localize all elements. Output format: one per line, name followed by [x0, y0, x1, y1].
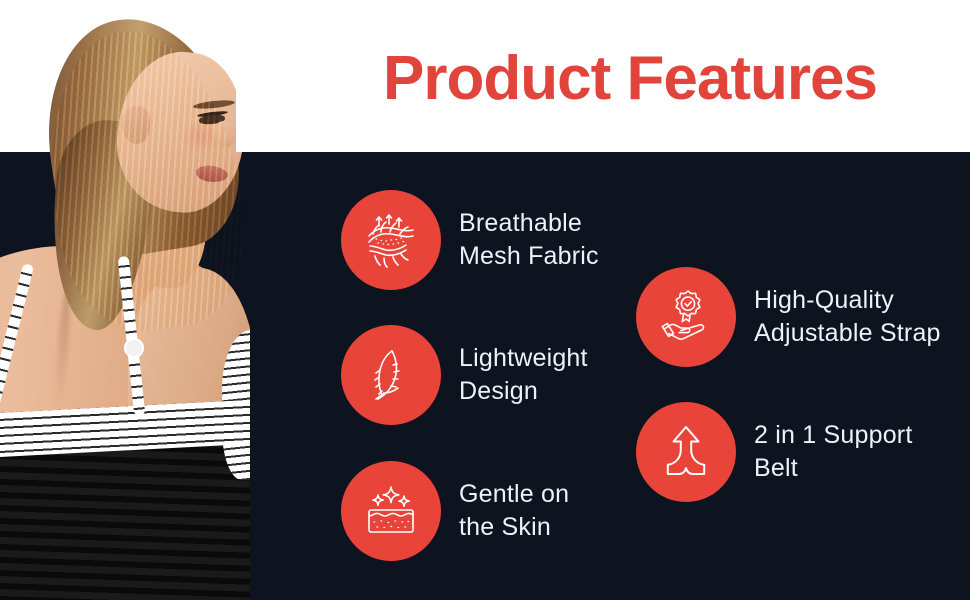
feature-label-line2: Belt	[754, 452, 912, 485]
feature-label-line2: Design	[459, 375, 588, 408]
feature-label-line2: Adjustable Strap	[754, 317, 941, 350]
feature-label: Lightweight Design	[459, 342, 588, 408]
hand-quality-badge-icon	[636, 267, 736, 367]
feature-item-2-in-1-support-belt[interactable]: 2 in 1 Support Belt	[636, 402, 912, 502]
feature-label-line1: Lightweight	[459, 342, 588, 375]
feature-item-breathable-mesh-fabric[interactable]: Breathable Mesh Fabric	[341, 190, 599, 290]
breathable-mesh-icon	[341, 190, 441, 290]
feature-item-gentle-on-the-skin[interactable]: Gentle on the Skin	[341, 461, 569, 561]
page-title: Product Features	[330, 36, 930, 122]
feature-label: Breathable Mesh Fabric	[459, 207, 599, 273]
feature-label: High-Quality Adjustable Strap	[754, 284, 941, 350]
merge-arrow-icon	[636, 402, 736, 502]
feature-item-high-quality-adjustable-strap[interactable]: High-Quality Adjustable Strap	[636, 267, 941, 367]
feather-icon	[341, 325, 441, 425]
feature-label: 2 in 1 Support Belt	[754, 419, 912, 485]
feature-label-line1: High-Quality	[754, 284, 941, 317]
feature-label-line1: Breathable	[459, 207, 599, 240]
feature-label-line2: the Skin	[459, 511, 569, 544]
feature-label-line2: Mesh Fabric	[459, 240, 599, 273]
feature-label: Gentle on the Skin	[459, 478, 569, 544]
feature-label-line1: 2 in 1 Support	[754, 419, 912, 452]
skin-sparkle-icon	[341, 461, 441, 561]
product-features-banner: Product Features Breathable Mes	[0, 0, 970, 600]
feature-label-line1: Gentle on	[459, 478, 569, 511]
feature-item-lightweight-design[interactable]: Lightweight Design	[341, 325, 588, 425]
